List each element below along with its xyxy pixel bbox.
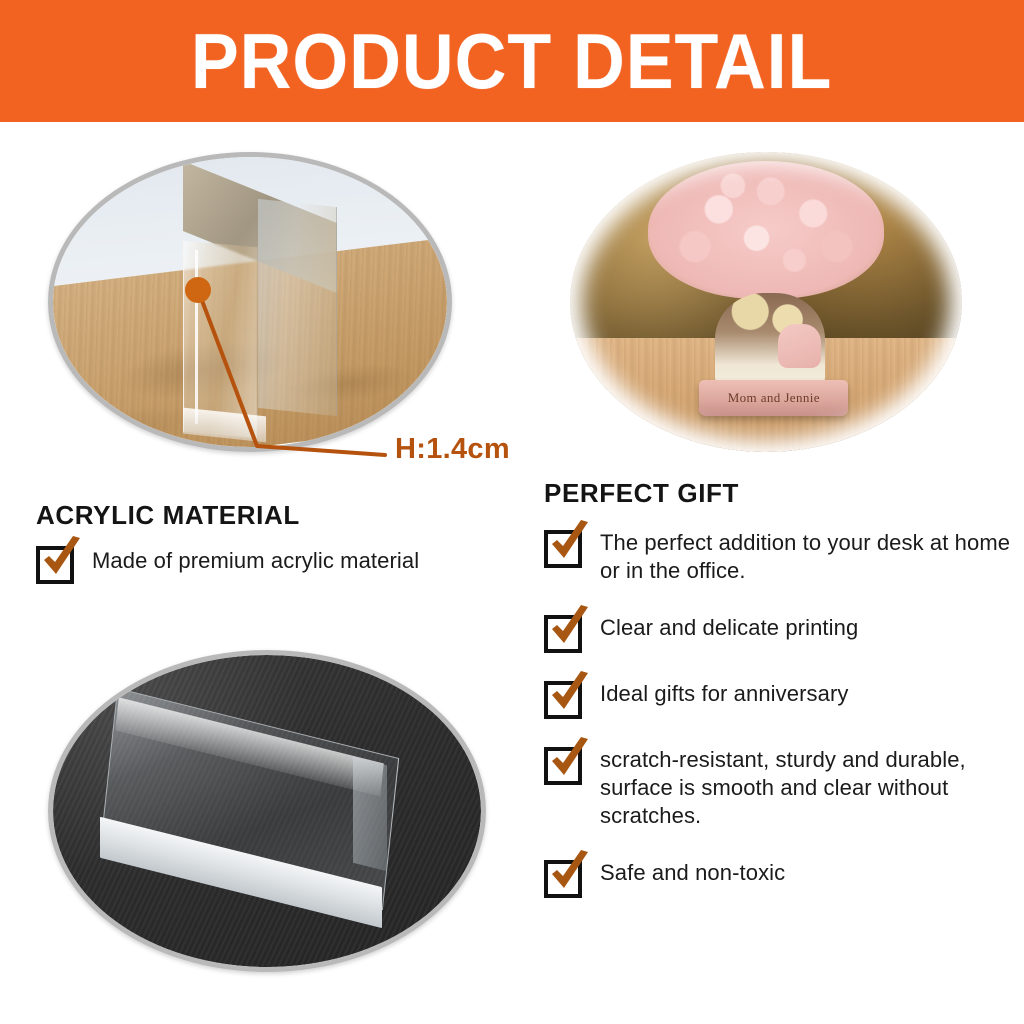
- page-title: PRODUCT DETAIL: [191, 22, 832, 100]
- check-glyph-icon: [543, 735, 595, 787]
- list-item: Made of premium acrylic material: [36, 538, 526, 582]
- list-item: Clear and delicate printing: [544, 607, 1014, 651]
- list-item: scratch-resistant, sturdy and durable, s…: [544, 739, 1014, 830]
- list-item: The perfect addition to your desk at hom…: [544, 522, 1014, 585]
- check-glyph-icon: [35, 534, 87, 586]
- list-item: Safe and non-toxic: [544, 852, 1014, 896]
- section-heading-perfect-gift: PERFECT GIFT: [544, 478, 739, 509]
- feature-text: Made of premium acrylic material: [92, 538, 419, 575]
- check-glyph-icon: [543, 603, 595, 655]
- checkmark-box-icon: [544, 675, 586, 717]
- feature-text: Clear and delicate printing: [600, 607, 858, 642]
- dimension-callout: H:1.4cm: [150, 270, 550, 485]
- feature-list-perfect-gift: The perfect addition to your desk at hom…: [544, 522, 1014, 918]
- feature-text: Safe and non-toxic: [600, 852, 785, 887]
- checkmark-box-icon: [544, 524, 586, 566]
- checkmark-box-icon: [544, 609, 586, 651]
- section-heading-acrylic-material: ACRYLIC MATERIAL: [36, 500, 300, 531]
- feature-text: Ideal gifts for anniversary: [600, 673, 848, 708]
- pink-crystal-tree-photo: Mom and Jennie: [570, 152, 962, 452]
- engraved-stone-base: Mom and Jennie: [699, 380, 848, 416]
- feature-text: scratch-resistant, sturdy and durable, s…: [600, 739, 1014, 830]
- pink-rose-canopy: [648, 161, 883, 299]
- list-item: Ideal gifts for anniversary: [544, 673, 1014, 717]
- acrylic-block-right-edge: [353, 757, 387, 872]
- daughter-figure: [778, 324, 822, 369]
- dimension-label: H:1.4cm: [395, 433, 510, 466]
- checkmark-box-icon: [544, 741, 586, 783]
- feature-text: The perfect addition to your desk at hom…: [600, 522, 1014, 585]
- feature-list-acrylic-material: Made of premium acrylic material: [36, 538, 526, 608]
- photo-inner: Mom and Jennie: [570, 152, 962, 452]
- base-engraving-text: Mom and Jennie: [728, 390, 820, 406]
- acrylic-block-on-slate-photo: [48, 650, 486, 972]
- photo-inner: [53, 655, 481, 967]
- check-glyph-icon: [543, 848, 595, 900]
- check-glyph-icon: [543, 518, 595, 570]
- check-glyph-icon: [543, 669, 595, 721]
- checkmark-box-icon: [36, 540, 78, 582]
- header-banner: PRODUCT DETAIL: [0, 0, 1024, 122]
- checkmark-box-icon: [544, 854, 586, 896]
